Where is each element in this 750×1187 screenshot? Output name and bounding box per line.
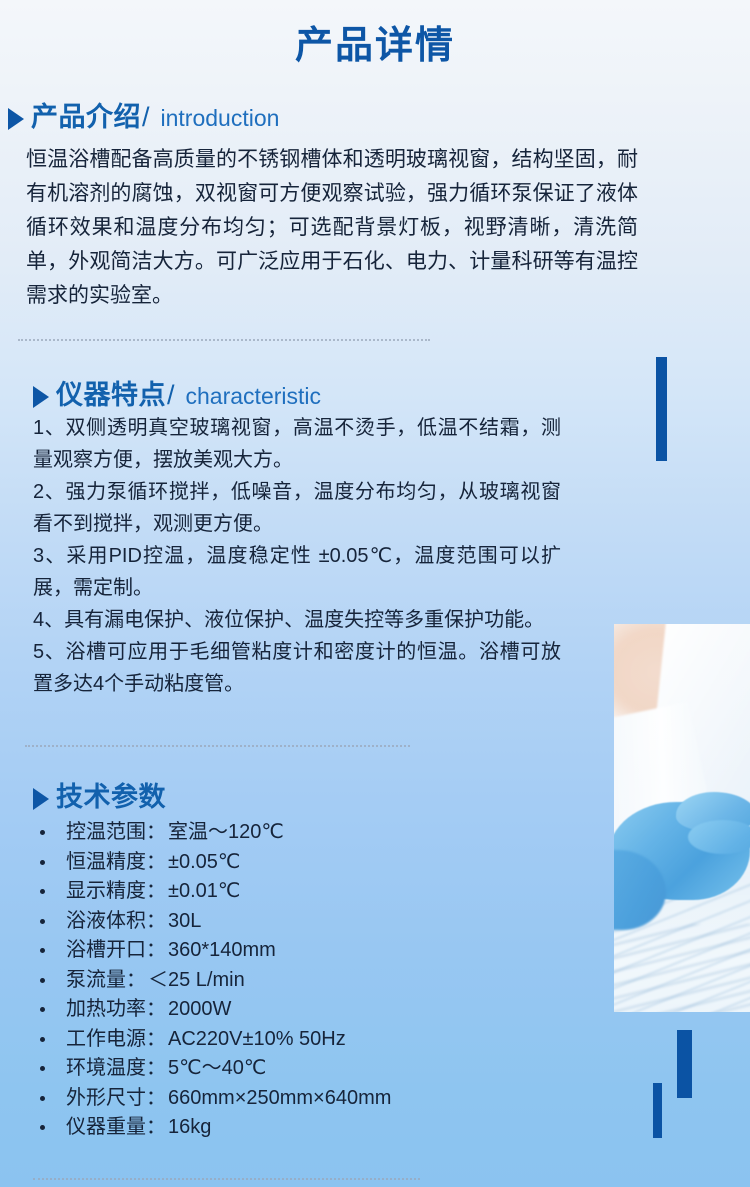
bullet-dot-icon xyxy=(40,1066,45,1071)
section-title-cn: 仪器特点 xyxy=(56,373,166,412)
spec-row: 显示精度：±0.01℃ xyxy=(30,877,391,907)
details-vertical-label: DETAILS xyxy=(664,463,750,625)
list-item: 5、浴槽可应用于毛细管粘度计和密度计的恒温。浴槽可放置多达4个手动粘度管。 xyxy=(33,636,561,700)
section-title-en: introduction xyxy=(161,105,280,132)
bullet-dot-icon xyxy=(40,1125,45,1130)
section-heading-parameters: 技术参数 xyxy=(33,775,166,814)
section-divider xyxy=(25,745,410,747)
bullet-dot-icon xyxy=(40,978,45,983)
photo-overlay xyxy=(614,624,750,1012)
triangle-bullet-icon xyxy=(8,108,24,130)
decorative-bar-thick xyxy=(677,1030,692,1098)
spec-value: 360*140mm xyxy=(168,939,276,961)
spec-label: 显示精度： xyxy=(66,880,166,902)
list-item: 2、强力泵循环搅拌，低噪音，温度分布均匀，从玻璃视窗看不到搅拌，观测更方便。 xyxy=(33,476,561,540)
spec-label: 外形尺寸： xyxy=(66,1087,166,1109)
spec-row: 泵流量：＜25 L/min xyxy=(30,966,391,996)
spec-label: 泵流量： xyxy=(66,969,146,991)
section-divider xyxy=(18,339,430,341)
list-item: 1、双侧透明真空玻璃视窗，高温不烫手，低温不结霜，测量观察方便，摆放美观大方。 xyxy=(33,412,561,476)
section-title-separator: / xyxy=(167,380,175,411)
spec-row: 工作电源：AC220V±10% 50Hz xyxy=(30,1025,391,1055)
section-heading-introduction: 产品介绍 / introduction xyxy=(8,95,279,134)
section-title-en: characteristic xyxy=(186,383,321,410)
bullet-dot-icon xyxy=(40,1007,45,1012)
product-detail-page: 产品详情 产品介绍 / introduction 恒温浴槽配备高质量的不锈钢槽体… xyxy=(0,0,750,1187)
section-divider xyxy=(33,1178,420,1180)
spec-row: 仪器重量：16kg xyxy=(30,1113,391,1143)
spec-label: 浴槽开口： xyxy=(66,939,166,961)
spec-label: 环境温度： xyxy=(66,1057,166,1079)
spec-list: 控温范围：室温～120℃ 恒温精度：±0.05℃ 显示精度：±0.01℃ 浴液体… xyxy=(30,818,391,1143)
bullet-dot-icon xyxy=(40,830,45,835)
section-title-cn: 产品介绍 xyxy=(31,95,141,134)
characteristic-list: 1、双侧透明真空玻璃视窗，高温不烫手，低温不结霜，测量观察方便，摆放美观大方。 … xyxy=(33,412,561,700)
spec-value: ±0.01℃ xyxy=(168,880,240,902)
section-title-cn: 技术参数 xyxy=(56,775,166,814)
spec-label: 浴液体积： xyxy=(66,910,166,932)
bullet-dot-icon xyxy=(40,919,45,924)
section-heading-characteristic: 仪器特点 / characteristic xyxy=(33,373,321,412)
lab-photo xyxy=(614,624,750,1012)
spec-value: AC220V±10% 50Hz xyxy=(168,1028,346,1050)
spec-value: 30L xyxy=(168,910,201,932)
decorative-bar-top xyxy=(656,357,667,461)
spec-value: 5℃～40℃ xyxy=(168,1057,266,1079)
spec-row: 浴液体积：30L xyxy=(30,907,391,937)
section-title-separator: / xyxy=(142,102,150,133)
bullet-dot-icon xyxy=(40,1096,45,1101)
bullet-dot-icon xyxy=(40,948,45,953)
list-item: 4、具有漏电保护、液位保护、温度失控等多重保护功能。 xyxy=(33,604,561,636)
spec-value: 2000W xyxy=(168,998,231,1020)
bullet-dot-icon xyxy=(40,1037,45,1042)
decorative-bar-thin xyxy=(653,1083,662,1138)
spec-value: 16kg xyxy=(168,1116,211,1138)
spec-value: 660mm×250mm×640mm xyxy=(168,1087,391,1109)
spec-row: 环境温度：5℃～40℃ xyxy=(30,1054,391,1084)
spec-row: 加热功率：2000W xyxy=(30,995,391,1025)
spec-label: 工作电源： xyxy=(66,1028,166,1050)
spec-row: 外形尺寸：660mm×250mm×640mm xyxy=(30,1084,391,1114)
spec-row: 浴槽开口：360*140mm xyxy=(30,936,391,966)
triangle-bullet-icon xyxy=(33,386,49,408)
spec-label: 控温范围： xyxy=(66,821,166,843)
list-item: 3、采用PID控温，温度稳定性 ±0.05℃，温度范围可以扩展，需定制。 xyxy=(33,540,561,604)
spec-value: ＜25 L/min xyxy=(148,969,245,991)
spec-row: 控温范围：室温～120℃ xyxy=(30,818,391,848)
spec-label: 加热功率： xyxy=(66,998,166,1020)
spec-value: 室温～120℃ xyxy=(168,821,284,843)
introduction-paragraph: 恒温浴槽配备高质量的不锈钢槽体和透明玻璃视窗，结构坚固，耐有机溶剂的腐蚀，双视窗… xyxy=(26,143,638,313)
page-title: 产品详情 xyxy=(0,22,750,71)
triangle-bullet-icon xyxy=(33,788,49,810)
bullet-dot-icon xyxy=(40,860,45,865)
spec-row: 恒温精度：±0.05℃ xyxy=(30,848,391,878)
bullet-dot-icon xyxy=(40,889,45,894)
spec-label: 仪器重量： xyxy=(66,1116,166,1138)
spec-label: 恒温精度： xyxy=(66,851,166,873)
spec-value: ±0.05℃ xyxy=(168,851,240,873)
